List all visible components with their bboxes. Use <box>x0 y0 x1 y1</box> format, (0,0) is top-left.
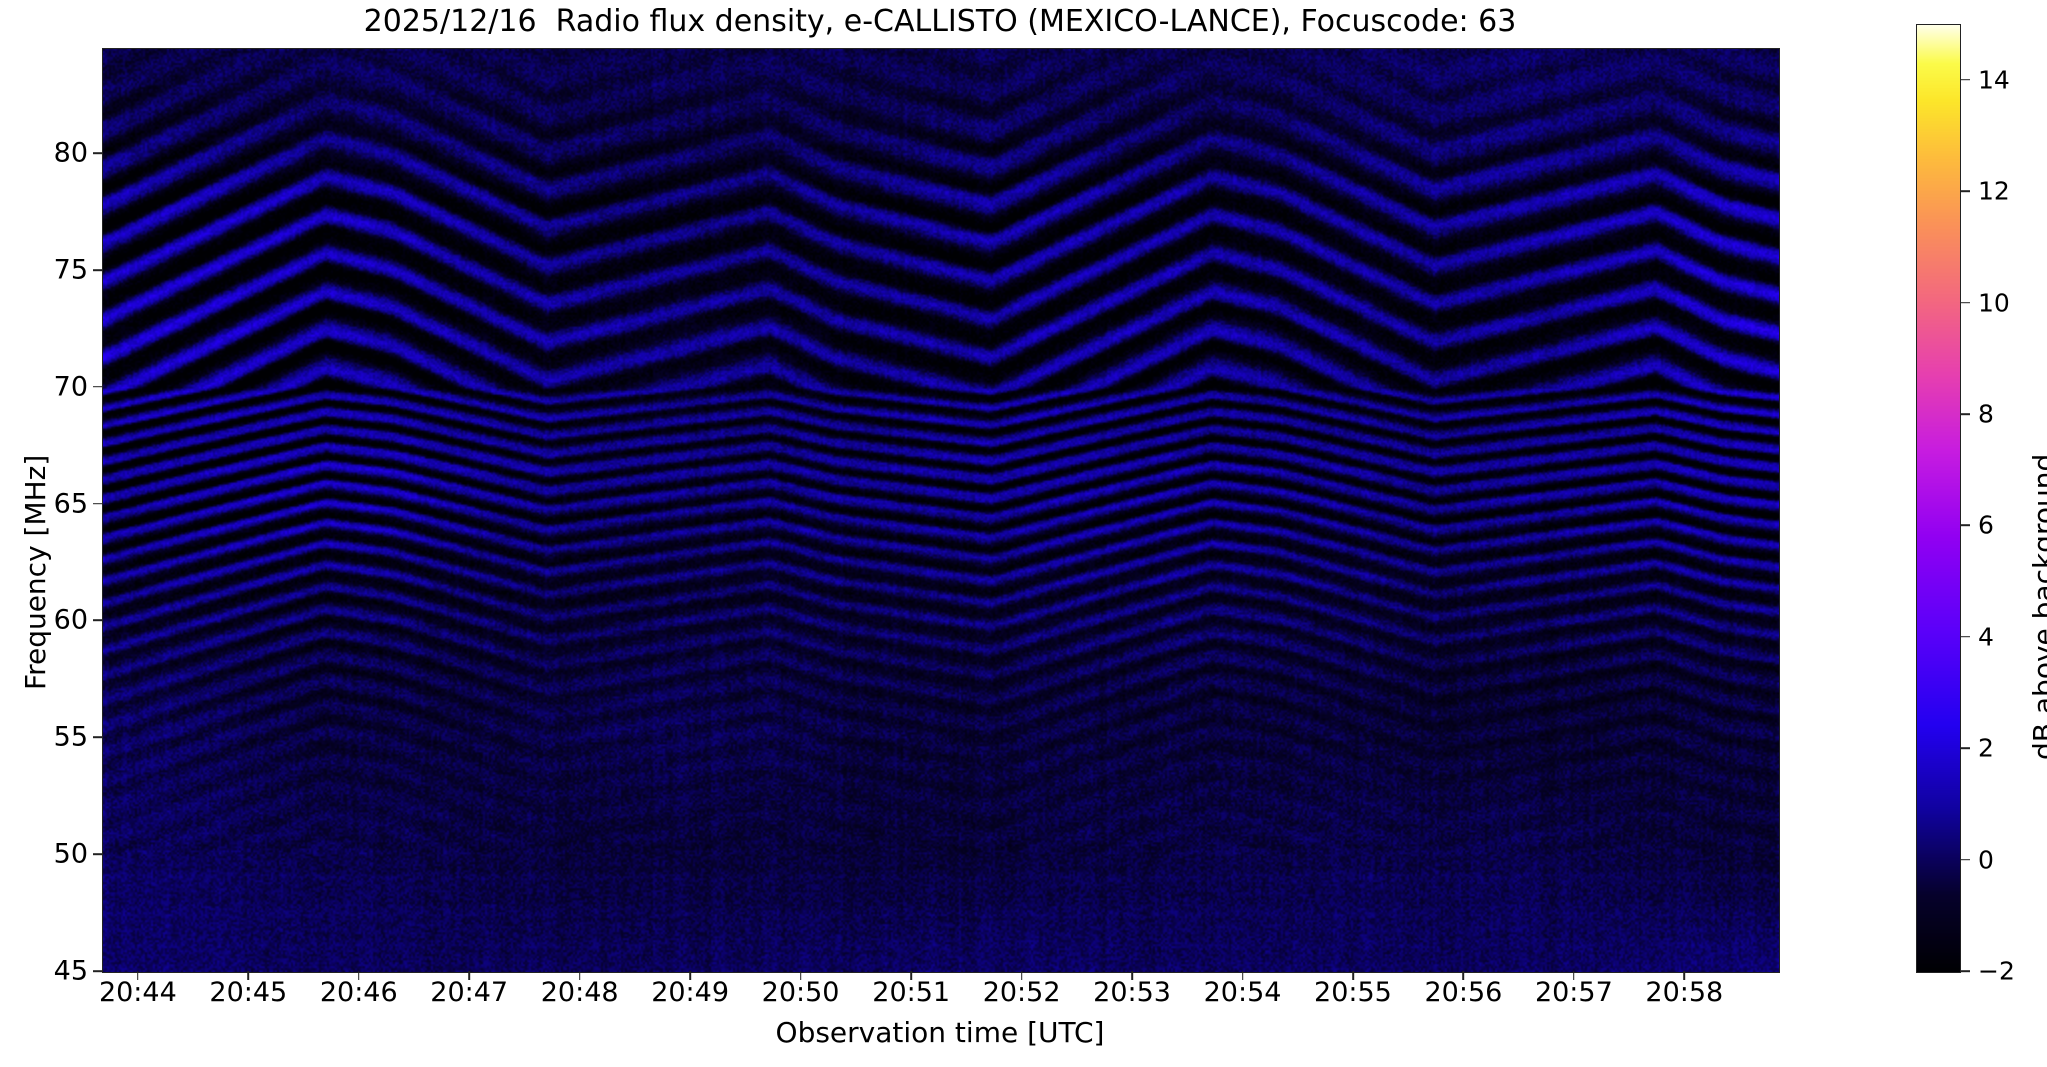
y-tick-mark <box>93 152 102 154</box>
x-tick-mark <box>579 971 581 980</box>
x-tick-mark <box>1131 971 1133 980</box>
colorbar-label: dB above background <box>2030 454 2047 760</box>
y-tick-label: 75 <box>18 256 88 283</box>
x-tick-label: 20:58 <box>1604 979 1764 1006</box>
y-tick-label: 80 <box>18 140 88 167</box>
y-tick-label: 60 <box>18 607 88 634</box>
page-title: 2025/12/16 Radio flux density, e-CALLIST… <box>102 4 1778 40</box>
y-tick-mark <box>93 269 102 271</box>
colorbar-tick-label: 8 <box>1978 401 2036 426</box>
x-tick-mark <box>910 971 912 980</box>
colorbar-tick-mark <box>1961 413 1970 415</box>
x-tick-mark <box>468 971 470 980</box>
colorbar-tick-label: −2 <box>1978 959 2036 984</box>
spectrogram-canvas <box>103 49 1779 972</box>
colorbar-tick-mark <box>1961 859 1970 861</box>
x-tick-mark <box>1463 971 1465 980</box>
y-tick-mark <box>93 620 102 622</box>
x-tick-mark <box>1242 971 1244 980</box>
x-tick-mark <box>1021 971 1023 980</box>
y-tick-mark <box>93 386 102 388</box>
x-tick-mark <box>358 971 360 980</box>
y-tick-mark <box>93 853 102 855</box>
y-tick-label: 65 <box>18 490 88 517</box>
y-tick-mark <box>93 503 102 505</box>
colorbar-tick-mark <box>1961 190 1970 192</box>
colorbar-tick-mark <box>1961 302 1970 304</box>
colorbar-tick-mark <box>1961 79 1970 81</box>
x-tick-mark <box>689 971 691 980</box>
x-tick-mark <box>248 971 250 980</box>
y-tick-label: 70 <box>18 373 88 400</box>
x-tick-mark <box>1573 971 1575 980</box>
colorbar-tick-label: 14 <box>1978 67 2036 92</box>
colorbar-tick-label: 12 <box>1978 179 2036 204</box>
x-tick-mark <box>1352 971 1354 980</box>
spectrogram-plot-area[interactable] <box>102 48 1780 973</box>
colorbar-tick-mark <box>1961 525 1970 527</box>
y-tick-label: 55 <box>18 724 88 751</box>
colorbar-gradient-canvas <box>1917 25 1960 972</box>
y-tick-label: 50 <box>18 841 88 868</box>
y-tick-mark <box>93 737 102 739</box>
colorbar-tick-mark <box>1961 747 1970 749</box>
x-tick-mark <box>800 971 802 980</box>
x-tick-mark <box>1684 971 1686 980</box>
colorbar-tick-mark <box>1961 636 1970 638</box>
y-tick-mark <box>93 970 102 972</box>
colorbar[interactable] <box>1916 24 1961 973</box>
x-axis-label: Observation time [UTC] <box>102 1018 1778 1048</box>
spectrogram-figure: 2025/12/16 Radio flux density, e-CALLIST… <box>0 0 2047 1067</box>
colorbar-tick-mark <box>1961 970 1970 972</box>
colorbar-tick-label: 0 <box>1978 847 2036 872</box>
colorbar-tick-label: 10 <box>1978 290 2036 315</box>
x-tick-mark <box>137 971 139 980</box>
